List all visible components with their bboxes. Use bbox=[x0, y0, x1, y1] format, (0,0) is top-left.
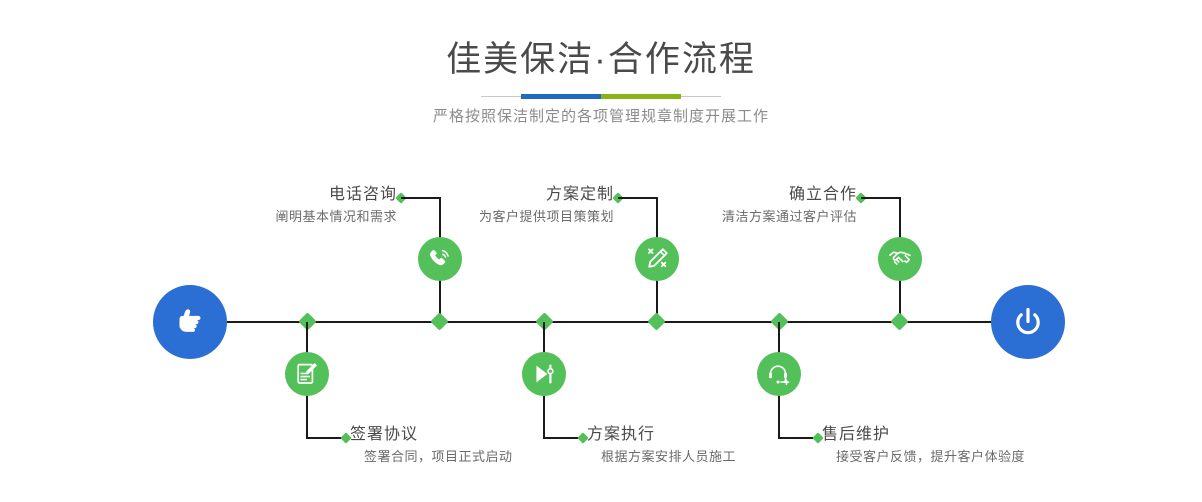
divider-segment-green bbox=[601, 94, 681, 99]
step-5-title: 确立合作 bbox=[722, 184, 857, 206]
step-2-label: 签署协议 签署合同，项目正式启动 bbox=[350, 424, 513, 468]
step-6-icon-node bbox=[757, 352, 801, 396]
step-4-connector-horizontal bbox=[543, 437, 582, 439]
step-5-axis-marker bbox=[890, 312, 908, 330]
step-2-desc: 签署合同，项目正式启动 bbox=[350, 446, 513, 468]
title-divider bbox=[481, 94, 721, 99]
step-1-icon-node bbox=[418, 237, 462, 281]
headset-support-icon bbox=[766, 361, 792, 387]
step-1-label: 电话咨询 阐明基本情况和需求 bbox=[275, 184, 397, 228]
step-1-title: 电话咨询 bbox=[275, 184, 397, 206]
power-icon bbox=[1008, 302, 1048, 342]
handshake-icon bbox=[887, 246, 913, 272]
timeline: 电话咨询 阐明基本情况和需求 bbox=[0, 140, 1202, 502]
step-3-icon-node bbox=[635, 237, 679, 281]
step-1-desc: 阐明基本情况和需求 bbox=[275, 206, 397, 228]
process-flow-infographic: 佳美保洁·合作流程 严格按照保洁制定的各项管理规章制度开展工作 bbox=[0, 0, 1202, 502]
step-1-connector-horizontal bbox=[401, 197, 440, 199]
step-3-label: 方案定制 为客户提供项目策策划 bbox=[479, 184, 614, 228]
step-2-title: 签署协议 bbox=[350, 424, 513, 446]
step-3-connector-horizontal bbox=[618, 197, 657, 199]
phone-call-icon bbox=[427, 246, 453, 272]
step-4-title: 方案执行 bbox=[587, 424, 736, 446]
step-3-axis-marker bbox=[647, 312, 665, 330]
divider-segment-blue bbox=[521, 94, 601, 99]
pencil-ruler-icon bbox=[644, 246, 670, 272]
step-5-icon-node bbox=[878, 237, 922, 281]
step-3-title: 方案定制 bbox=[479, 184, 614, 206]
step-6-desc: 接受客户反馈，提升客户体验度 bbox=[822, 446, 1025, 468]
step-2-icon-node bbox=[285, 352, 329, 396]
page-title: 佳美保洁·合作流程 bbox=[0, 38, 1202, 82]
step-6-label: 售后维护 接受客户反馈，提升客户体验度 bbox=[822, 424, 1025, 468]
step-4-label: 方案执行 根据方案安排人员施工 bbox=[587, 424, 736, 468]
step-2-connector-horizontal bbox=[306, 437, 345, 439]
play-execute-icon bbox=[531, 361, 557, 387]
page-subtitle: 严格按照保洁制定的各项管理规章制度开展工作 bbox=[0, 106, 1202, 128]
step-5-desc: 清洁方案通过客户评估 bbox=[722, 206, 857, 228]
timeline-start-node bbox=[153, 285, 227, 359]
pointing-hand-icon bbox=[170, 302, 210, 342]
step-4-desc: 根据方案安排人员施工 bbox=[587, 446, 736, 468]
step-4-icon-node bbox=[522, 352, 566, 396]
step-6-connector-horizontal bbox=[778, 437, 817, 439]
step-1-axis-marker bbox=[430, 312, 448, 330]
document-sign-icon bbox=[294, 361, 320, 387]
header: 佳美保洁·合作流程 严格按照保洁制定的各项管理规章制度开展工作 bbox=[0, 0, 1202, 140]
step-5-connector-horizontal bbox=[861, 197, 900, 199]
step-6-title: 售后维护 bbox=[822, 424, 1025, 446]
step-5-label: 确立合作 清洁方案通过客户评估 bbox=[722, 184, 857, 228]
step-3-desc: 为客户提供项目策策划 bbox=[479, 206, 614, 228]
timeline-end-node bbox=[991, 285, 1065, 359]
